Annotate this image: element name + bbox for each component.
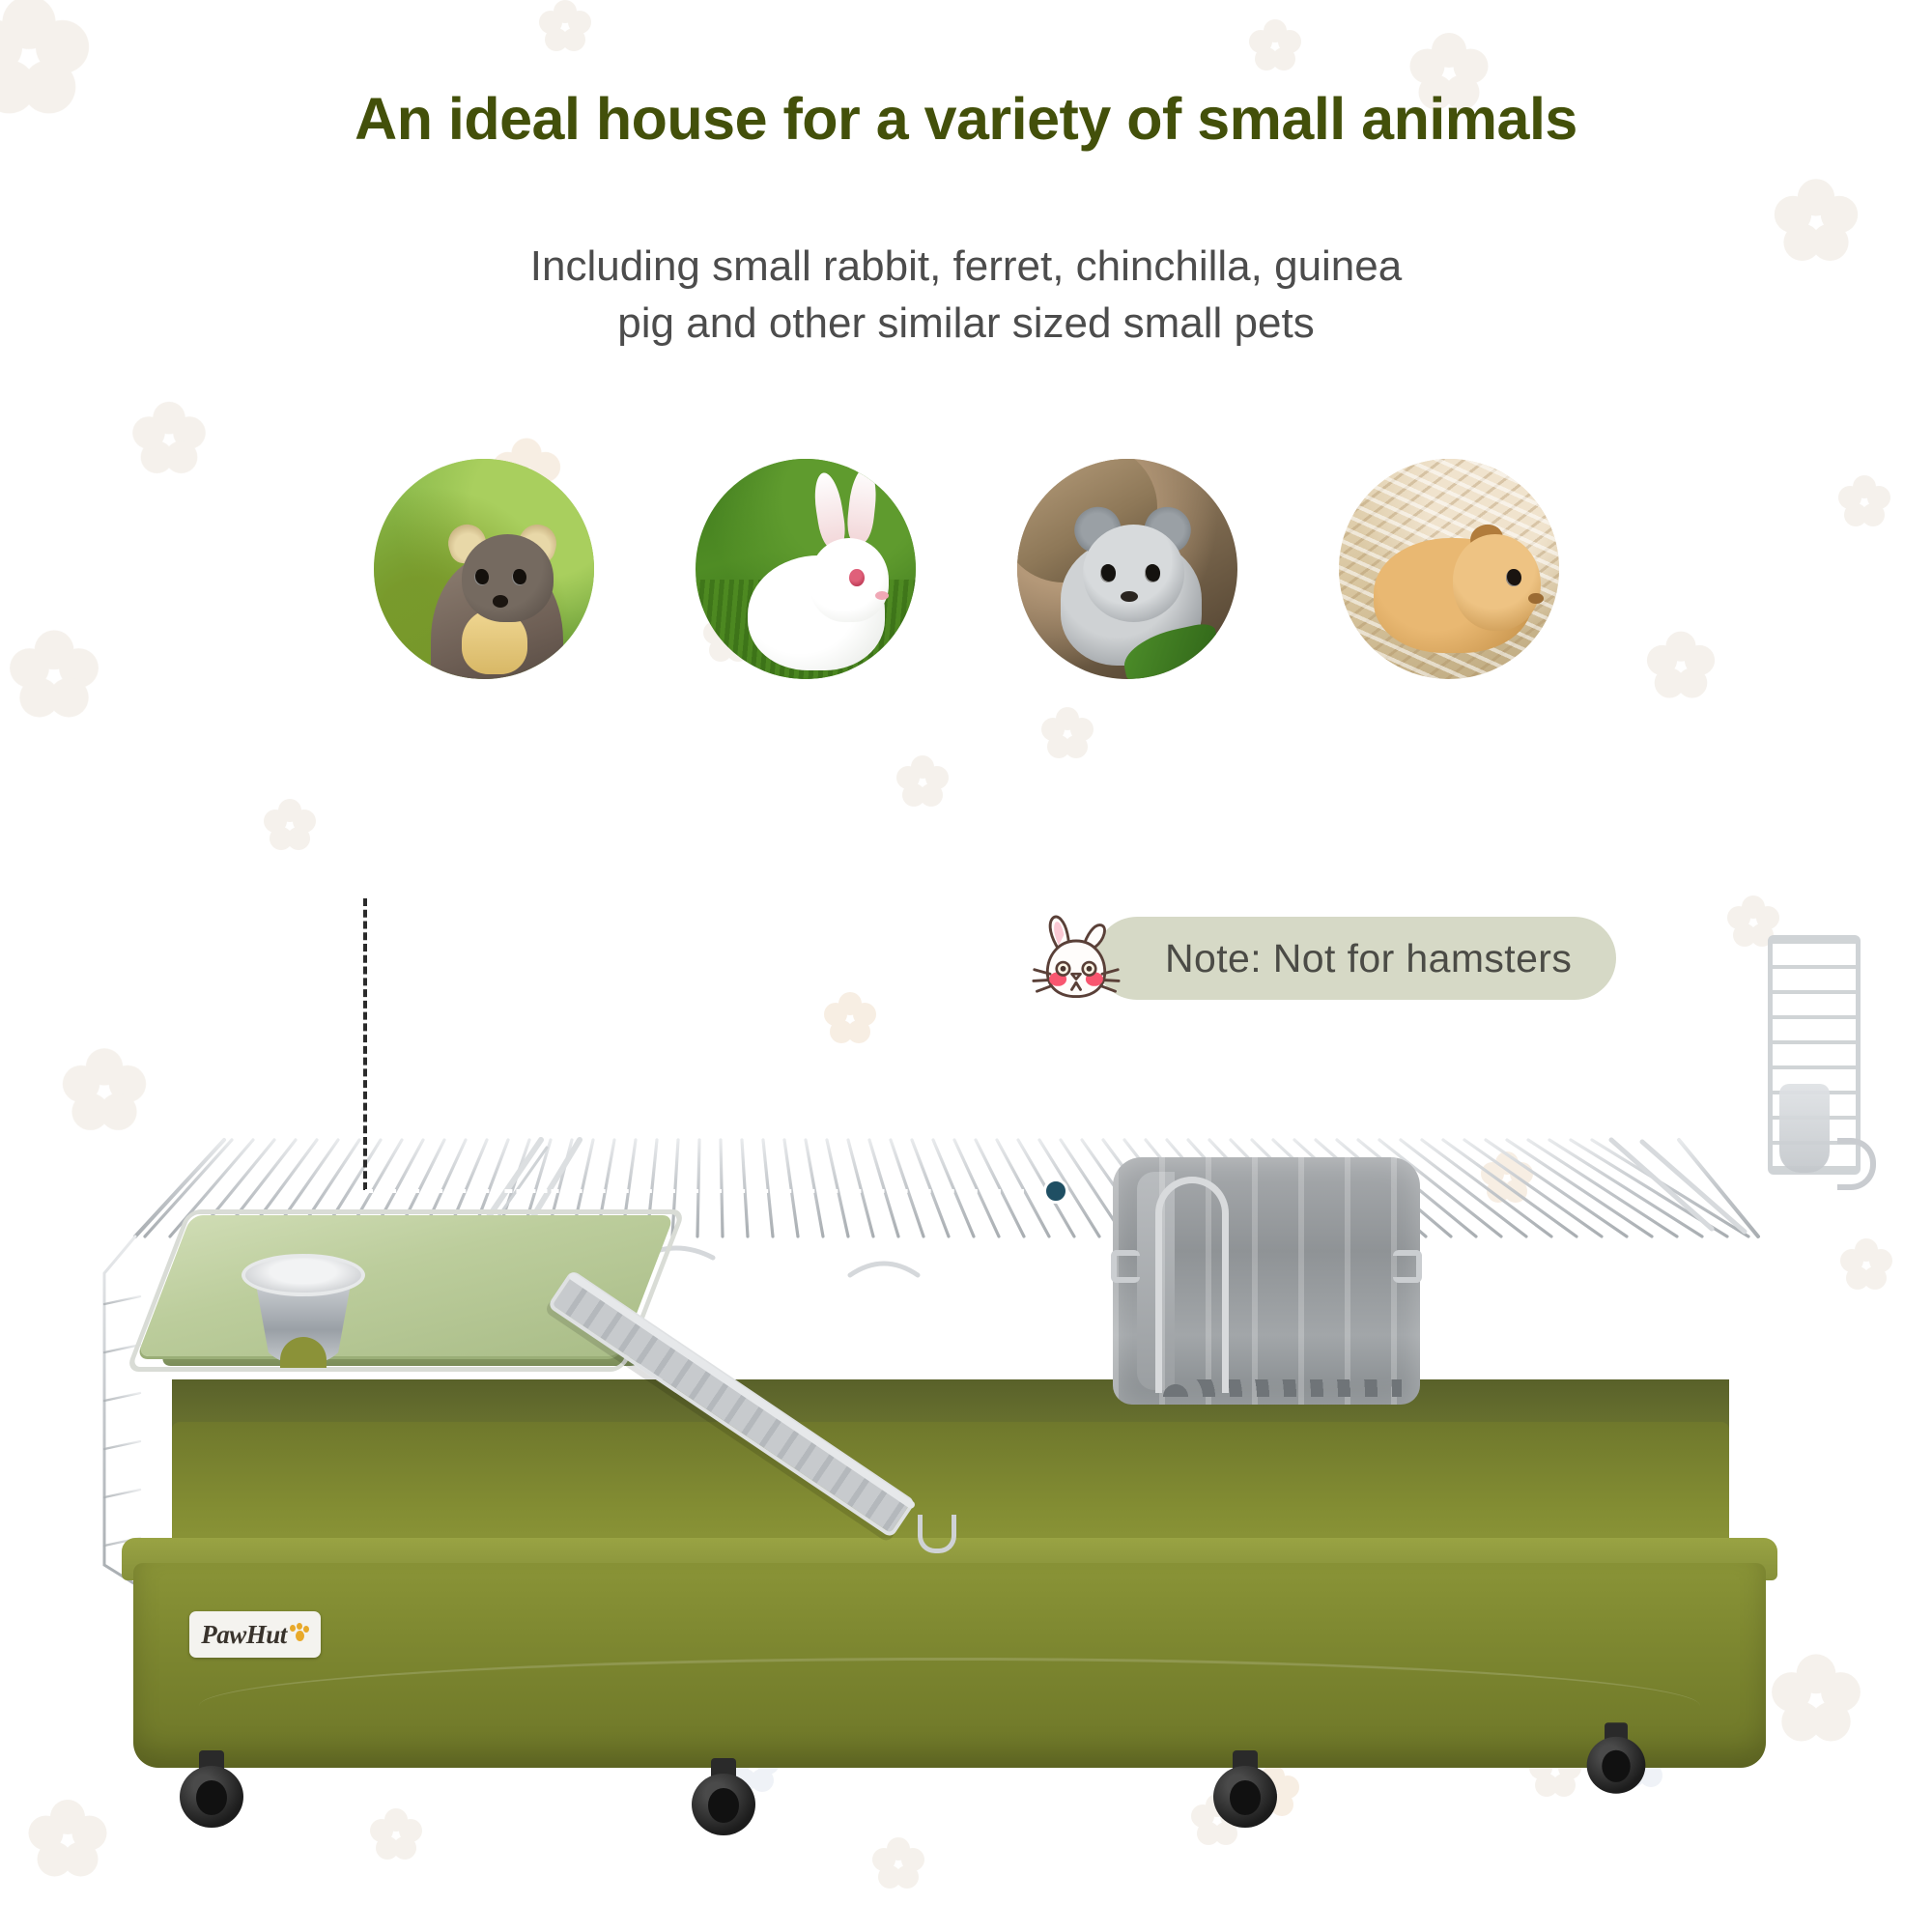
pet-photo-ferret — [374, 459, 594, 679]
brand-logo: PawHut — [189, 1611, 321, 1658]
base-tray — [133, 1563, 1766, 1768]
pet-photo-rabbit — [696, 459, 916, 679]
note-callout: Note: Not for hamsters — [1024, 906, 1616, 1010]
food-bowl — [241, 1254, 365, 1370]
pet-photo-chinchilla — [1017, 459, 1237, 679]
note-badge-text: Note: Not for hamsters — [1165, 936, 1572, 981]
page-title: An ideal house for a variety of small an… — [0, 85, 1932, 153]
caster-wheel-3 — [1213, 1750, 1277, 1828]
width-guide-line — [365, 1189, 1047, 1193]
dimension-hotspot[interactable] — [1043, 1179, 1068, 1204]
caster-wheel-2 — [692, 1758, 755, 1835]
note-badge: Note: Not for hamsters — [1095, 917, 1616, 1000]
caster-wheel-4 — [1587, 1722, 1646, 1794]
hay-feeder-tunnel — [1113, 1157, 1420, 1405]
brand-name: PawHut — [201, 1620, 287, 1650]
paw-print-icon — [290, 1623, 309, 1646]
depth-guide-line — [363, 898, 367, 1190]
subtitle-line-1: Including small rabbit, ferret, chinchil… — [0, 238, 1932, 295]
product-photo: PawHut — [0, 985, 1932, 1913]
access-ramp — [572, 1269, 978, 1559]
pet-photo-gallery — [0, 459, 1932, 679]
water-bottle — [1779, 1084, 1830, 1173]
pet-photo-guinea-pig — [1339, 459, 1559, 679]
page-subtitle: Including small rabbit, ferret, chinchil… — [0, 238, 1932, 353]
subtitle-line-2: pig and other similar sized small pets — [0, 295, 1932, 352]
caster-wheel-1 — [180, 1750, 243, 1828]
bunny-face-icon — [1024, 906, 1128, 1010]
